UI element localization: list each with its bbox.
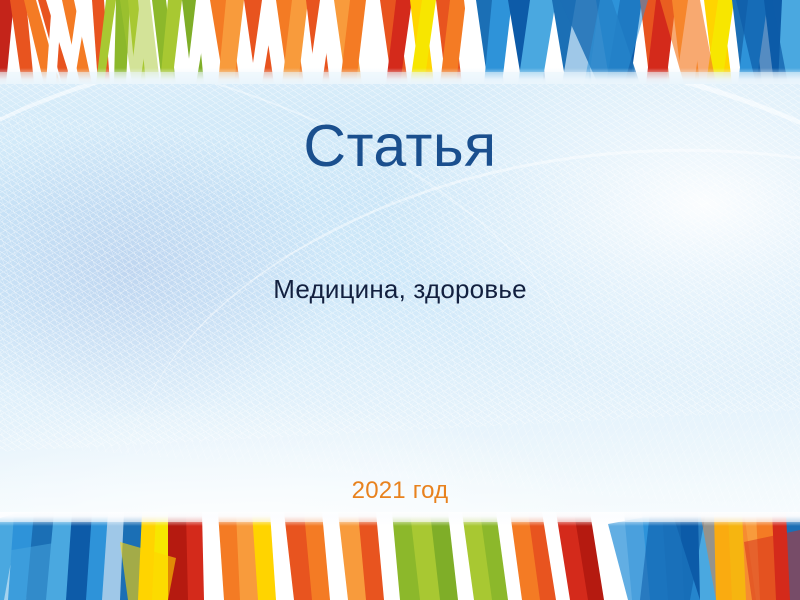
slide-year: 2021 год bbox=[0, 477, 800, 505]
bottom-shards-graphic bbox=[0, 512, 800, 600]
top-decorative-border bbox=[0, 0, 800, 84]
slide-title: Статья bbox=[0, 116, 800, 178]
bottom-decorative-border bbox=[0, 512, 800, 600]
presentation-slide: Статья Медицина, здоровье 2021 год bbox=[0, 0, 800, 600]
slide-subtitle: Медицина, здоровье bbox=[0, 274, 800, 305]
top-shards-graphic bbox=[0, 0, 800, 84]
